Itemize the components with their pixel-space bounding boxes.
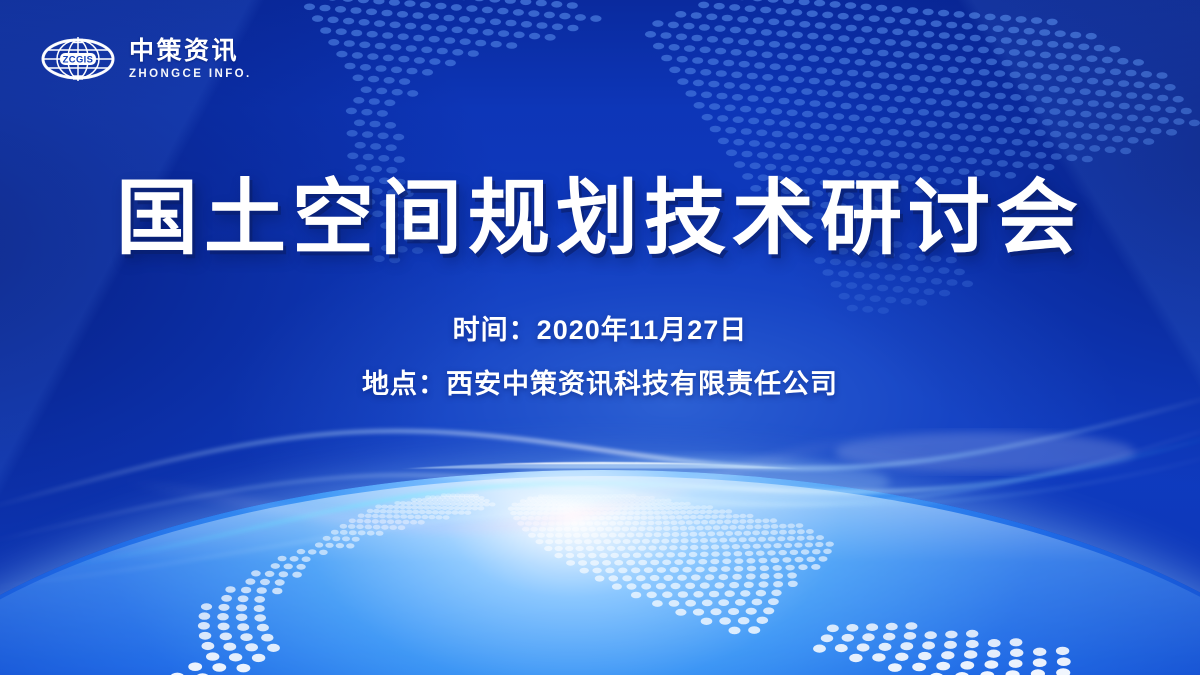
conference-banner: ZCGIS 中策资讯 ZHONGCE INFO. 国土空间规划技术研讨会 时间：…	[0, 0, 1200, 675]
zcgis-globe-icon: ZCGIS	[40, 33, 116, 85]
light-streak-decoration	[0, 360, 1200, 620]
brand-name-cn: 中策资讯	[129, 38, 252, 64]
brand-wordmark: 中策资讯 ZHONGCE INFO.	[129, 38, 252, 79]
svg-text:ZCGIS: ZCGIS	[63, 53, 94, 64]
brand-name-en: ZHONGCE INFO.	[129, 68, 252, 80]
brand-logo[interactable]: ZCGIS 中策资讯 ZHONGCE INFO.	[40, 33, 252, 85]
